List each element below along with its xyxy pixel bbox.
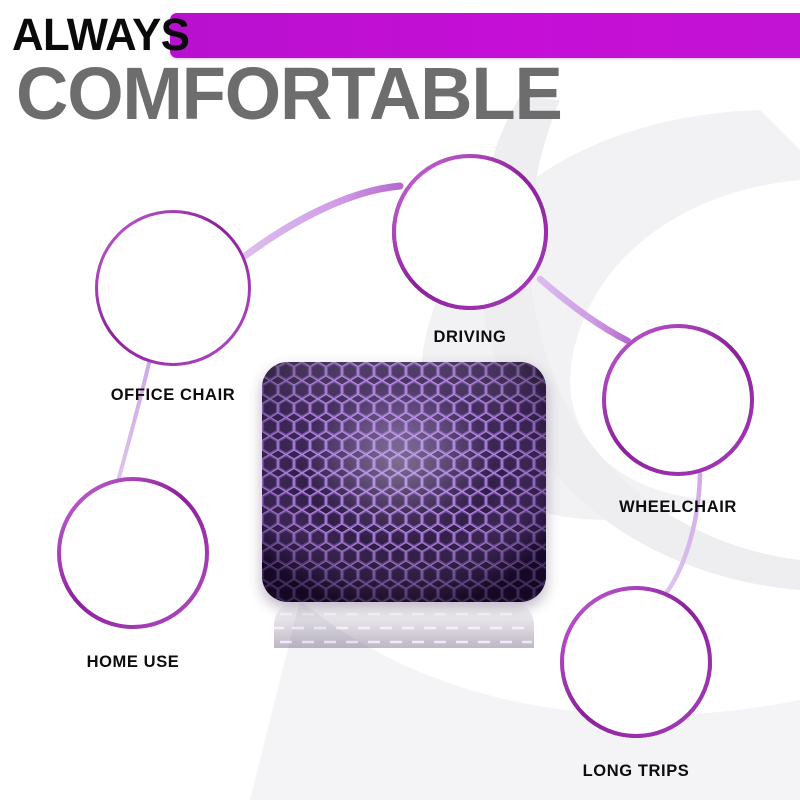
home-interior-photo[interactable] — [57, 477, 209, 629]
node-label-wheelchair: WHEELCHAIR — [505, 497, 800, 517]
poster-header: ALWAYS COMFORTABLE — [0, 0, 800, 130]
seat-cushion[interactable] — [262, 362, 546, 602]
wheelchair-photo[interactable] — [602, 324, 754, 476]
node-label-home-use: HOME USE — [0, 652, 266, 672]
node-label-driving: DRIVING — [297, 327, 643, 347]
cushion-reflection — [274, 602, 534, 648]
driving-photo[interactable] — [392, 154, 548, 310]
node-label-long-trips: LONG TRIPS — [463, 761, 800, 781]
infographic-poster: ALWAYS COMFORTABLE — [0, 0, 800, 800]
airplane-photo[interactable] — [560, 586, 712, 738]
product-image[interactable] — [262, 362, 546, 602]
page-title: COMFORTABLE — [16, 54, 562, 134]
office-chair-photo[interactable] — [95, 210, 251, 366]
